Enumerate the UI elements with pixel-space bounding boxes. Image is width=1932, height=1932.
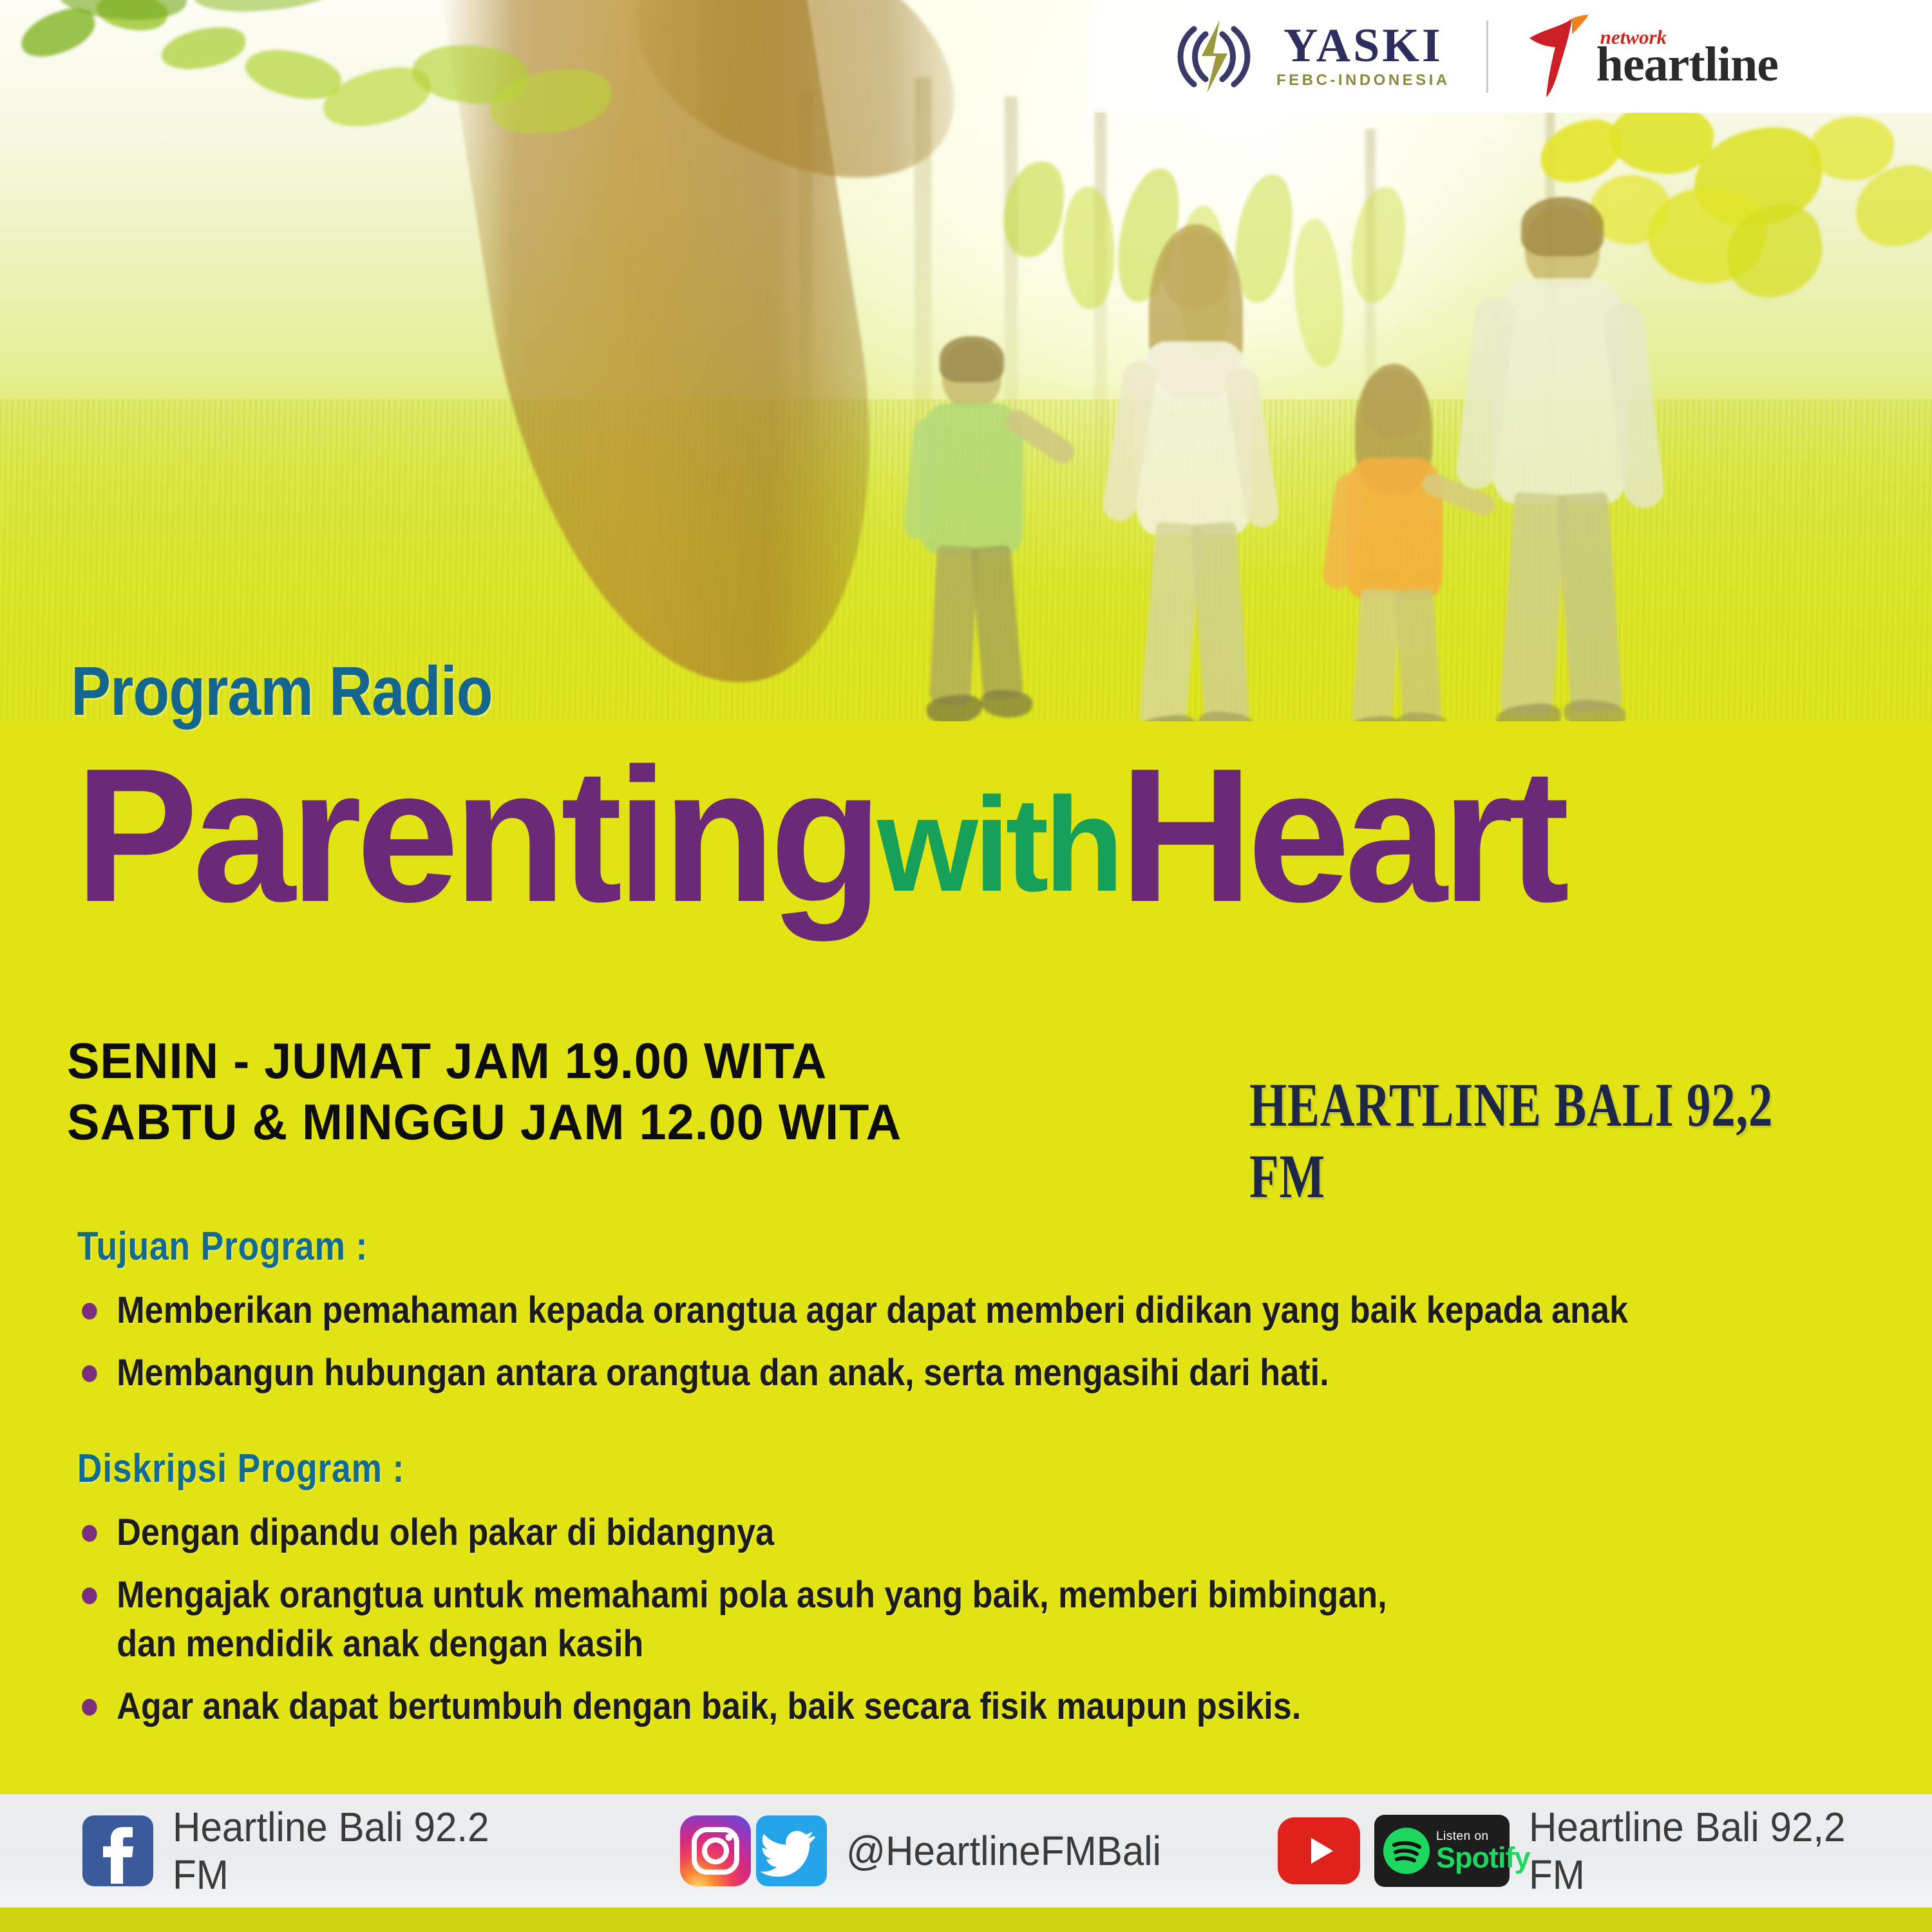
heartline-figure-icon xyxy=(1524,15,1602,99)
yaski-subtitle: FEBC-INDONESIA xyxy=(1276,71,1450,90)
bullet-text: Membangun hubungan antara orangtua dan a… xyxy=(117,1349,1712,1397)
figure-father xyxy=(1462,206,1674,721)
tujuan-bullet-list: Memberikan pemahaman kepada orangtua aga… xyxy=(77,1286,1893,1397)
social-footer-bar: Heartline Bali 92.2 FM @HeartlineFMBali xyxy=(0,1794,1932,1908)
footer-item-facebook[interactable]: Heartline Bali 92.2 FM xyxy=(82,1803,577,1899)
bullet-text: Memberikan pemahaman kepada orangtua aga… xyxy=(117,1286,1712,1334)
vertical-divider xyxy=(1486,21,1488,93)
spotify-handle: Heartline Bali 92,2 FM xyxy=(1529,1803,1908,1899)
section-diskripsi: Diskripsi Program : Dengan dipandu oleh … xyxy=(77,1446,1893,1745)
footer-item-youtube-spotify[interactable]: Listen on Spotify Heartline Bali 92,2 FM xyxy=(1278,1803,1932,1899)
title-word-heart: Heart xyxy=(1119,728,1564,942)
schedule-line-weekend: SABTU & MINGGU JAM 12.00 WITA xyxy=(67,1092,902,1153)
list-item: Mengajak orangtua untuk memahami pola as… xyxy=(77,1571,1712,1668)
list-item: Dengan dipandu oleh pakar di bidangnya xyxy=(77,1508,1712,1557)
instagram-icon[interactable] xyxy=(680,1815,751,1886)
section-tujuan: Tujuan Program : Memberikan pemahaman ke… xyxy=(77,1224,1893,1412)
bullet-dot-icon xyxy=(82,1525,97,1542)
heartline-logo: network heartline xyxy=(1524,15,1778,99)
twitter-handle: @HeartlineFMBali xyxy=(846,1827,1161,1875)
diskripsi-bullet-list: Dengan dipandu oleh pakar di bidangnya M… xyxy=(77,1508,1893,1731)
bullet-dot-icon xyxy=(82,1365,97,1382)
bullet-text: Agar anak dapat bertumbuh dengan baik, b… xyxy=(117,1682,1712,1730)
facebook-handle: Heartline Bali 92.2 FM xyxy=(173,1803,553,1899)
bullet-dot-icon xyxy=(82,1699,97,1716)
title-word-parenting: Parenting xyxy=(75,728,877,942)
list-item: Membangun hubungan antara orangtua dan a… xyxy=(77,1349,1712,1397)
station-name: HEARTLINE BALI 92,2 FM xyxy=(1249,1069,1782,1212)
bullet-text-continued: dan mendidik anak dengan kasih xyxy=(117,1620,1712,1668)
bullet-dot-icon xyxy=(82,1303,97,1320)
broadcast-schedule: SENIN - JUMAT JAM 19.00 WITA SABTU & MIN… xyxy=(67,1030,902,1153)
program-title: ParentingwithHeart xyxy=(0,740,1874,931)
spotify-icon[interactable]: Listen on Spotify xyxy=(1374,1815,1510,1887)
section-heading: Tujuan Program : xyxy=(77,1224,1639,1269)
list-item: Agar anak dapat bertumbuh dengan baik, b… xyxy=(77,1682,1712,1730)
spotify-wordmark: Spotify xyxy=(1436,1843,1530,1872)
bullet-text: Mengajak orangtua untuk memahami pola as… xyxy=(117,1571,1712,1619)
spotify-disc-icon xyxy=(1383,1828,1430,1874)
bottom-yellow-bar xyxy=(0,1908,1932,1932)
section-heading: Diskripsi Program : xyxy=(77,1446,1639,1492)
list-item: Memberikan pemahaman kepada orangtua aga… xyxy=(77,1286,1712,1334)
yaski-name: YASKI xyxy=(1283,23,1443,69)
footer-item-instagram-twitter[interactable]: @HeartlineFMBali xyxy=(680,1815,1181,1886)
heartline-wordmark: network heartline xyxy=(1596,26,1778,86)
figure-mother xyxy=(1108,232,1301,721)
facebook-icon[interactable] xyxy=(82,1815,153,1886)
schedule-line-weekday: SENIN - JUMAT JAM 19.00 WITA xyxy=(67,1030,902,1092)
spotify-listen-on-label: Listen on xyxy=(1436,1830,1530,1842)
heartline-name: heartline xyxy=(1596,43,1778,86)
title-block: Program Radio ParentingwithHeart xyxy=(0,650,1932,931)
bullet-text: Dengan dipandu oleh pakar di bidangnya xyxy=(117,1508,1712,1557)
header-logo-strip: YASKI FEBC-INDONESIA network heartline xyxy=(1088,0,1932,113)
title-word-with: with xyxy=(877,770,1119,920)
yaski-logo: YASKI FEBC-INDONESIA xyxy=(1088,19,1450,95)
radio-wave-bolt-icon xyxy=(1166,19,1262,95)
yaski-wordmark: YASKI FEBC-INDONESIA xyxy=(1276,23,1450,90)
bullet-dot-icon xyxy=(82,1587,97,1604)
twitter-icon[interactable] xyxy=(756,1815,827,1886)
poster-root: YASKI FEBC-INDONESIA network heartline P… xyxy=(0,0,1932,1932)
youtube-icon[interactable] xyxy=(1278,1817,1360,1884)
program-kicker: Program Radio xyxy=(0,650,1662,731)
spotify-badge-text: Listen on Spotify xyxy=(1436,1830,1530,1872)
